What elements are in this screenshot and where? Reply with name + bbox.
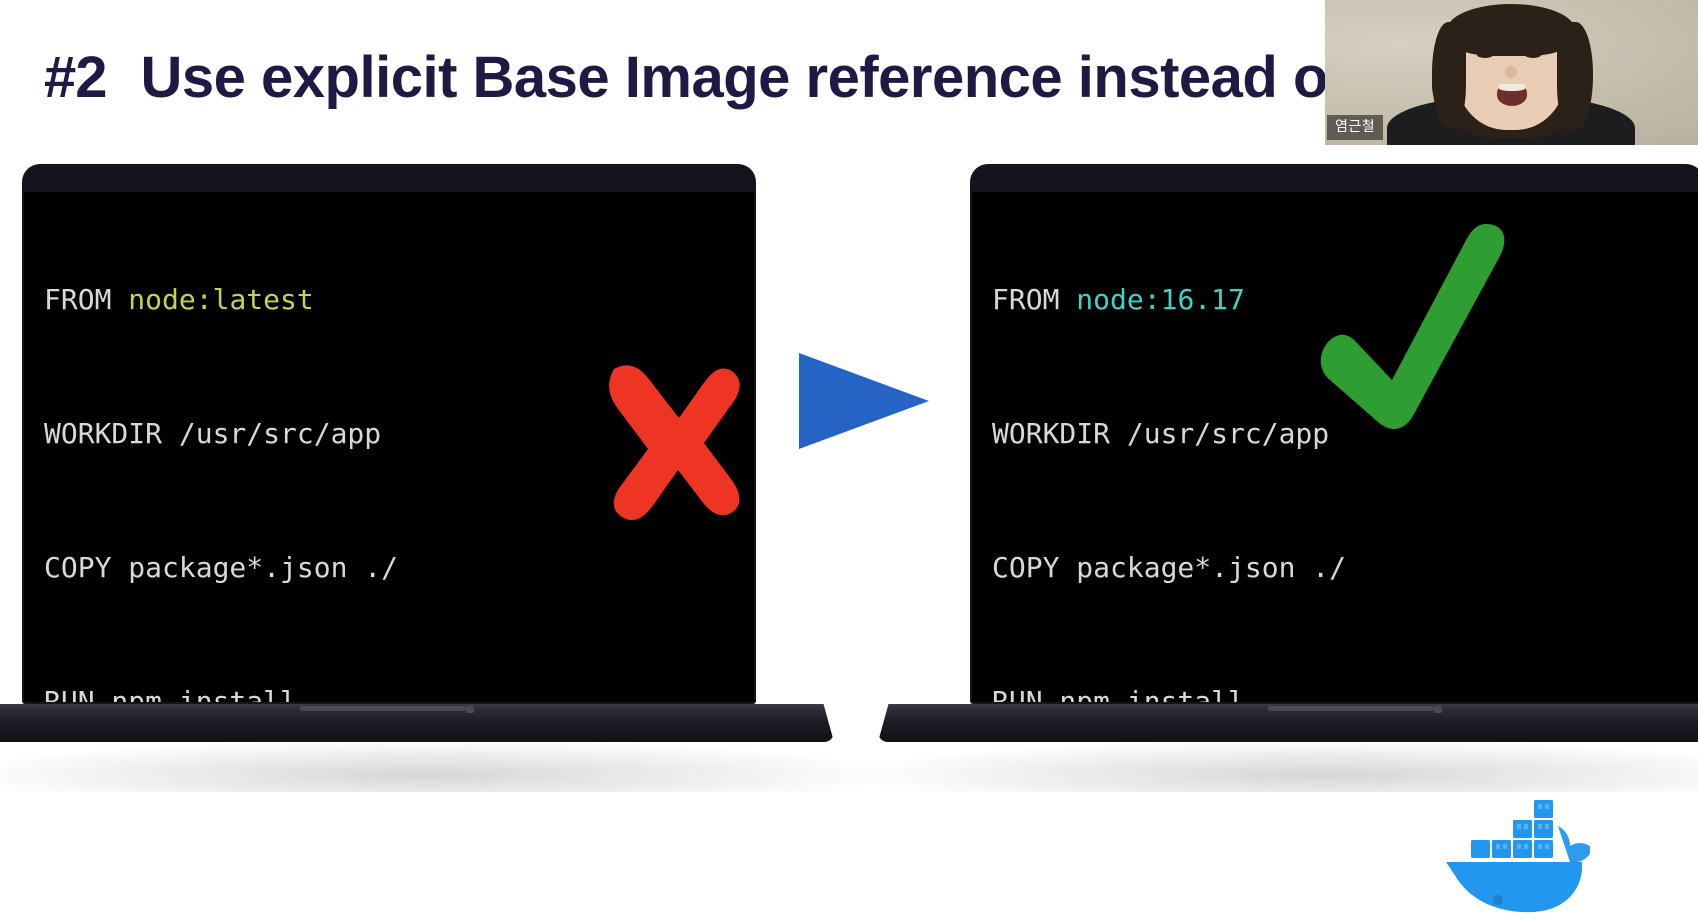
code-line-run-npm: RUN npm install <box>44 684 499 702</box>
webcam-person-side-hair-left <box>1432 22 1466 128</box>
code-token-base-image: node:16.17 <box>1076 283 1245 316</box>
code-line-workdir: WORKDIR /usr/src/app <box>44 416 499 480</box>
webcam-participant-name: 염근철 <box>1327 115 1383 140</box>
slide-canvas: #2 Use explicit Base Image reference ins… <box>0 0 1698 920</box>
webcam-overlay[interactable]: 염근철 <box>1325 0 1698 145</box>
webcam-person-side-hair-right <box>1557 22 1593 130</box>
code-line-from-prefix: FROM <box>992 283 1076 316</box>
right-laptop-screen: FROM node:16.17 WORKDIR /usr/src/app COP… <box>972 192 1698 702</box>
code-line-run-npm: RUN npm install <box>992 684 1447 702</box>
left-laptop-notch-2 <box>466 706 474 713</box>
code-line-from: FROM node:latest <box>44 282 499 346</box>
right-laptop-notch <box>1268 706 1434 711</box>
docker-whale-logo <box>1440 778 1590 920</box>
left-laptop: FROM node:latest WORKDIR /usr/src/app CO… <box>0 160 850 800</box>
webcam-person-eye-left <box>1477 52 1493 58</box>
code-line-copy-package: COPY package*.json ./ <box>992 550 1447 614</box>
left-dockerfile-code: FROM node:latest WORKDIR /usr/src/app CO… <box>44 212 499 702</box>
right-arrow-icon <box>799 353 929 449</box>
code-line-from-prefix: FROM <box>44 283 128 316</box>
code-line-copy-package: COPY package*.json ./ <box>44 550 499 614</box>
webcam-person-teeth <box>1499 84 1525 91</box>
webcam-person-fringe <box>1447 4 1575 56</box>
right-laptop: FROM node:16.17 WORKDIR /usr/src/app COP… <box>878 160 1698 800</box>
left-laptop-screen: FROM node:latest WORKDIR /usr/src/app CO… <box>24 192 754 702</box>
webcam-person-nose <box>1505 66 1517 78</box>
x-mark-icon <box>586 357 746 522</box>
title-number: #2 <box>44 44 107 111</box>
webcam-person-eye-right <box>1525 52 1541 58</box>
right-laptop-notch-2 <box>1434 706 1442 713</box>
code-token-base-image: node:latest <box>128 283 313 316</box>
left-laptop-notch <box>300 706 466 711</box>
check-mark-icon <box>1310 224 1590 439</box>
title-text: Use explicit Base Image reference instea… <box>141 44 1347 111</box>
